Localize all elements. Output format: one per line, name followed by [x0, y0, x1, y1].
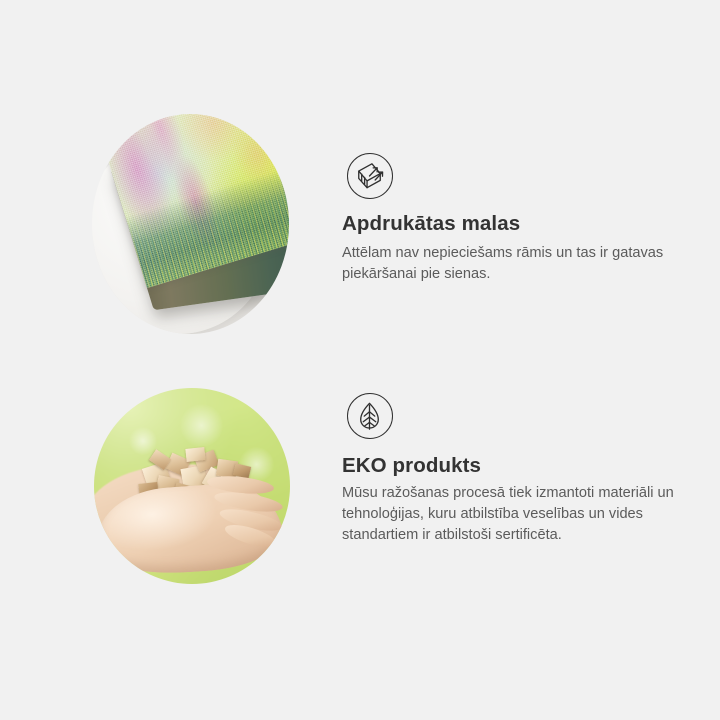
printed-edges-icon: [347, 153, 393, 199]
feature-title: Apdrukātas malas: [342, 212, 520, 236]
canvas-print-image: [92, 114, 289, 334]
fingers: [204, 474, 290, 541]
bokeh-highlight: [180, 404, 223, 447]
feature-description: Attēlam nav nepieciešams rāmis un tas ir…: [342, 243, 687, 285]
feature-title: EKO produkts: [342, 454, 481, 478]
eco-product-image: [94, 388, 290, 584]
leaf-icon: [347, 393, 393, 439]
product-features-panel: Apdrukātas malas Attēlam nav nepieciešam…: [0, 0, 720, 720]
feature-description: Mūsu ražošanas procesā tiek izmantoti ma…: [342, 483, 687, 546]
